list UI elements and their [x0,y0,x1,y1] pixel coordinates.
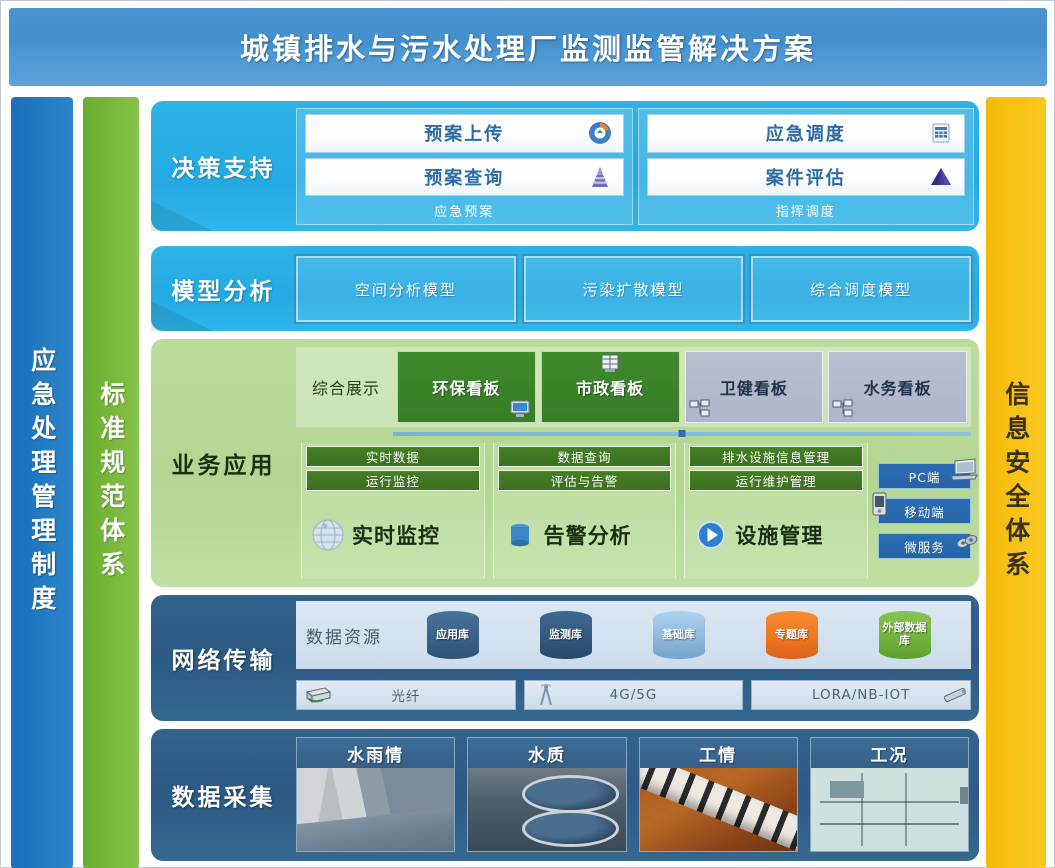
pyramid-purple-icon [587,164,613,190]
client-devices-group: PC端 移动端 [876,443,971,579]
page-title-bar: 城镇排水与污水处理厂监测监管解决方案 [9,8,1047,86]
board-health[interactable]: 卫健看板 [685,351,824,423]
monitor-icon [509,399,531,419]
database-thematic[interactable]: 专题库 [766,611,818,659]
business-tag-operation-monitoring[interactable]: 运行监控 [306,470,480,491]
model-box-spatial-analysis-label: 空间分析模型 [355,279,457,300]
layer-decision-support-title: 决策支持 [172,149,276,183]
network-transmission-body: 数据资源 应用库 监测库 基础库 [296,595,979,721]
pillar-emergency-management: 应急处理管理制度 [11,97,73,868]
database-external-label: 外部数据库 [879,622,931,647]
device-mobile[interactable]: 移动端 [878,498,971,524]
data-card-hydrology[interactable]: 水雨情 [296,737,455,852]
grid-table-icon [928,120,954,146]
chart-node-icon [689,399,711,419]
photo-pipeline [640,768,797,851]
database-monitoring-label: 监测库 [549,629,582,642]
model-box-pollution-diffusion[interactable]: 污染扩散模型 [524,256,744,322]
business-module-alarm-analysis[interactable]: 告警分析 [498,494,672,576]
database-thematic-label: 专题库 [775,629,808,642]
business-module-facility-management[interactable]: 设施管理 [689,494,863,576]
network-link-fiber[interactable]: 光纤 [296,680,516,710]
database-foundation[interactable]: 基础库 [653,611,705,659]
decision-group-emergency-plan: 预案上传 预案查询 [296,108,633,225]
database-foundation-label: 基础库 [662,629,695,642]
network-link-cellular-label: 4G/5G [610,687,658,703]
data-acquisition-body: 水雨情 水质 工情 工况 [296,729,979,861]
board-water-affairs[interactable]: 水务看板 [828,351,967,423]
board-municipal-label: 市政看板 [576,375,644,399]
antenna-icon [531,683,561,707]
layer-decision-support-label: 决策支持 [151,101,296,231]
data-card-engineering-status[interactable]: 工情 [639,737,798,852]
photo-scada-schematic [811,768,968,851]
network-link-fiber-label: 光纤 [391,685,420,705]
device-microservice[interactable]: 微服务 [878,533,971,559]
photo-canal [297,768,454,851]
business-column-alarm-analysis: 数据查询 评估与告警 告警分析 [493,443,677,579]
layer-data-acquisition-label: 数据采集 [151,729,296,861]
pillar-emergency-management-label: 应急处理管理制度 [28,347,56,619]
device-mobile-label: 移动端 [904,502,945,521]
microservice-icon [952,530,982,554]
decision-group-command-dispatch: 应急调度 案件评估 [638,108,975,225]
network-link-list: 光纤 4G/5G LORA/NB-IOT [296,669,971,714]
board-water-affairs-label: 水务看板 [864,375,932,399]
board-environmental-label: 环保看板 [432,375,500,399]
layer-data-acquisition: 数据采集 水雨情 水质 工情 工况 [151,729,979,861]
solution-architecture-diagram: 城镇排水与污水处理厂监测监管解决方案 应急处理管理制度 标准规范体系 信息安全体… [0,0,1055,868]
board-health-label: 卫健看板 [720,375,788,399]
model-box-spatial-analysis[interactable]: 空间分析模型 [296,256,516,322]
arrow-notch-icon [151,301,213,331]
data-card-operating-condition-label: 工况 [811,738,968,768]
network-link-lora-nbiot-label: LORA/NB-IOT [812,687,910,703]
decision-item-plan-upload[interactable]: 预案上传 [305,114,624,153]
data-card-water-quality-label: 水质 [468,738,625,768]
data-resource-panel: 数据资源 应用库 监测库 基础库 [296,601,971,669]
upload-circle-icon [587,120,613,146]
layer-model-analysis: 模型分析 空间分析模型 污染扩散模型 综合调度模型 [151,246,979,331]
layer-network-transmission-title: 网络传输 [172,641,276,675]
decision-item-plan-query-label: 预案查询 [424,164,504,190]
decision-item-emergency-dispatch[interactable]: 应急调度 [647,114,966,153]
data-resource-title: 数据资源 [306,623,382,648]
database-monitoring[interactable]: 监测库 [540,611,592,659]
business-module-facility-management-label: 设施管理 [735,520,823,550]
business-module-realtime-monitoring-label: 实时监控 [352,520,440,550]
data-card-operating-condition[interactable]: 工况 [810,737,969,852]
database-external[interactable]: 外部数据库 [879,611,931,659]
board-municipal[interactable]: 市政看板 [541,351,680,423]
business-module-alarm-analysis-label: 告警分析 [544,520,632,550]
play-circle-icon [693,517,729,553]
photo-treatment-tanks [468,768,625,851]
database-list: 应用库 监测库 基础库 专题库 [396,611,961,659]
business-column-facility-management: 排水设施信息管理 运行维护管理 设施管理 [684,443,868,579]
layer-decision-support: 决策支持 预案上传 预案查询 [151,101,979,231]
device-pc-label: PC端 [909,467,941,486]
comprehensive-display-row: 综合展示 环保看板 市政看板 [296,347,971,427]
business-tag-operation-maintenance[interactable]: 运行维护管理 [689,470,863,491]
pyramid-navy-icon [928,164,954,190]
layer-business-application-label: 业务应用 [151,339,296,587]
decision-group-emergency-plan-caption: 应急预案 [305,201,624,222]
business-application-body: 综合展示 环保看板 市政看板 [296,339,979,587]
decision-item-case-evaluation-label: 案件评估 [766,164,846,190]
chart-node-icon [832,399,854,419]
comprehensive-display-title: 综合展示 [300,351,392,423]
layer-network-transmission: 网络传输 数据资源 应用库 监测库 [151,595,979,721]
business-tag-assessment-alarm[interactable]: 评估与告警 [498,470,672,491]
model-box-integrated-dispatch[interactable]: 综合调度模型 [751,256,971,322]
page-title: 城镇排水与污水处理厂监测监管解决方案 [240,26,816,68]
model-analysis-body: 空间分析模型 污染扩散模型 综合调度模型 [296,246,979,331]
decision-item-case-evaluation[interactable]: 案件评估 [647,158,966,197]
model-box-integrated-dispatch-label: 综合调度模型 [810,279,912,300]
pillar-information-security-label: 信息安全体系 [1002,381,1030,585]
model-box-pollution-diffusion-label: 污染扩散模型 [583,279,685,300]
business-section-divider [393,432,971,436]
database-application[interactable]: 应用库 [427,611,479,659]
data-card-engineering-status-label: 工情 [640,738,797,768]
network-link-cellular[interactable]: 4G/5G [524,680,744,710]
window-icon [599,354,621,374]
business-module-realtime-monitoring[interactable]: 实时监控 [306,494,480,576]
database-cylinder-icon [502,517,538,553]
pillar-standards-system: 标准规范体系 [83,97,139,868]
router-icon [303,683,333,707]
business-tag-data-query[interactable]: 数据查询 [498,446,672,467]
pillar-standards-system-label: 标准规范体系 [97,381,125,585]
layer-data-acquisition-title: 数据采集 [172,778,276,812]
pillar-information-security: 信息安全体系 [986,97,1046,868]
data-card-water-quality[interactable]: 水质 [467,737,626,852]
business-tag-realtime-data[interactable]: 实时数据 [306,446,480,467]
network-link-lora-nbiot[interactable]: LORA/NB-IOT [751,680,971,710]
laptop-icon [948,458,978,482]
decision-item-plan-query[interactable]: 预案查询 [305,158,624,197]
decision-support-body: 预案上传 预案查询 [296,101,979,231]
business-column-realtime-monitoring: 实时数据 运行监控 [301,443,485,579]
board-environmental[interactable]: 环保看板 [397,351,536,423]
data-card-hydrology-label: 水雨情 [297,738,454,768]
iot-device-icon [940,683,970,707]
layer-business-application: 业务应用 综合展示 环保看板 [151,339,979,587]
globe-icon [310,517,346,553]
business-tag-drainage-facility-info[interactable]: 排水设施信息管理 [689,446,863,467]
layer-model-analysis-label: 模型分析 [151,246,296,331]
decision-item-plan-upload-label: 预案上传 [424,120,504,146]
device-pc[interactable]: PC端 [878,463,971,489]
mobile-phone-icon [865,492,895,516]
decision-item-emergency-dispatch-label: 应急调度 [766,120,846,146]
database-application-label: 应用库 [436,629,469,642]
arrow-notch-icon [151,201,213,231]
decision-group-command-dispatch-caption: 指挥调度 [647,201,966,222]
layer-business-application-title: 业务应用 [172,446,276,480]
business-modules-row: 实时数据 运行监控 [296,443,971,579]
layer-model-analysis-title: 模型分析 [172,272,276,306]
layer-network-transmission-label: 网络传输 [151,595,296,721]
device-microservice-label: 微服务 [904,537,945,556]
